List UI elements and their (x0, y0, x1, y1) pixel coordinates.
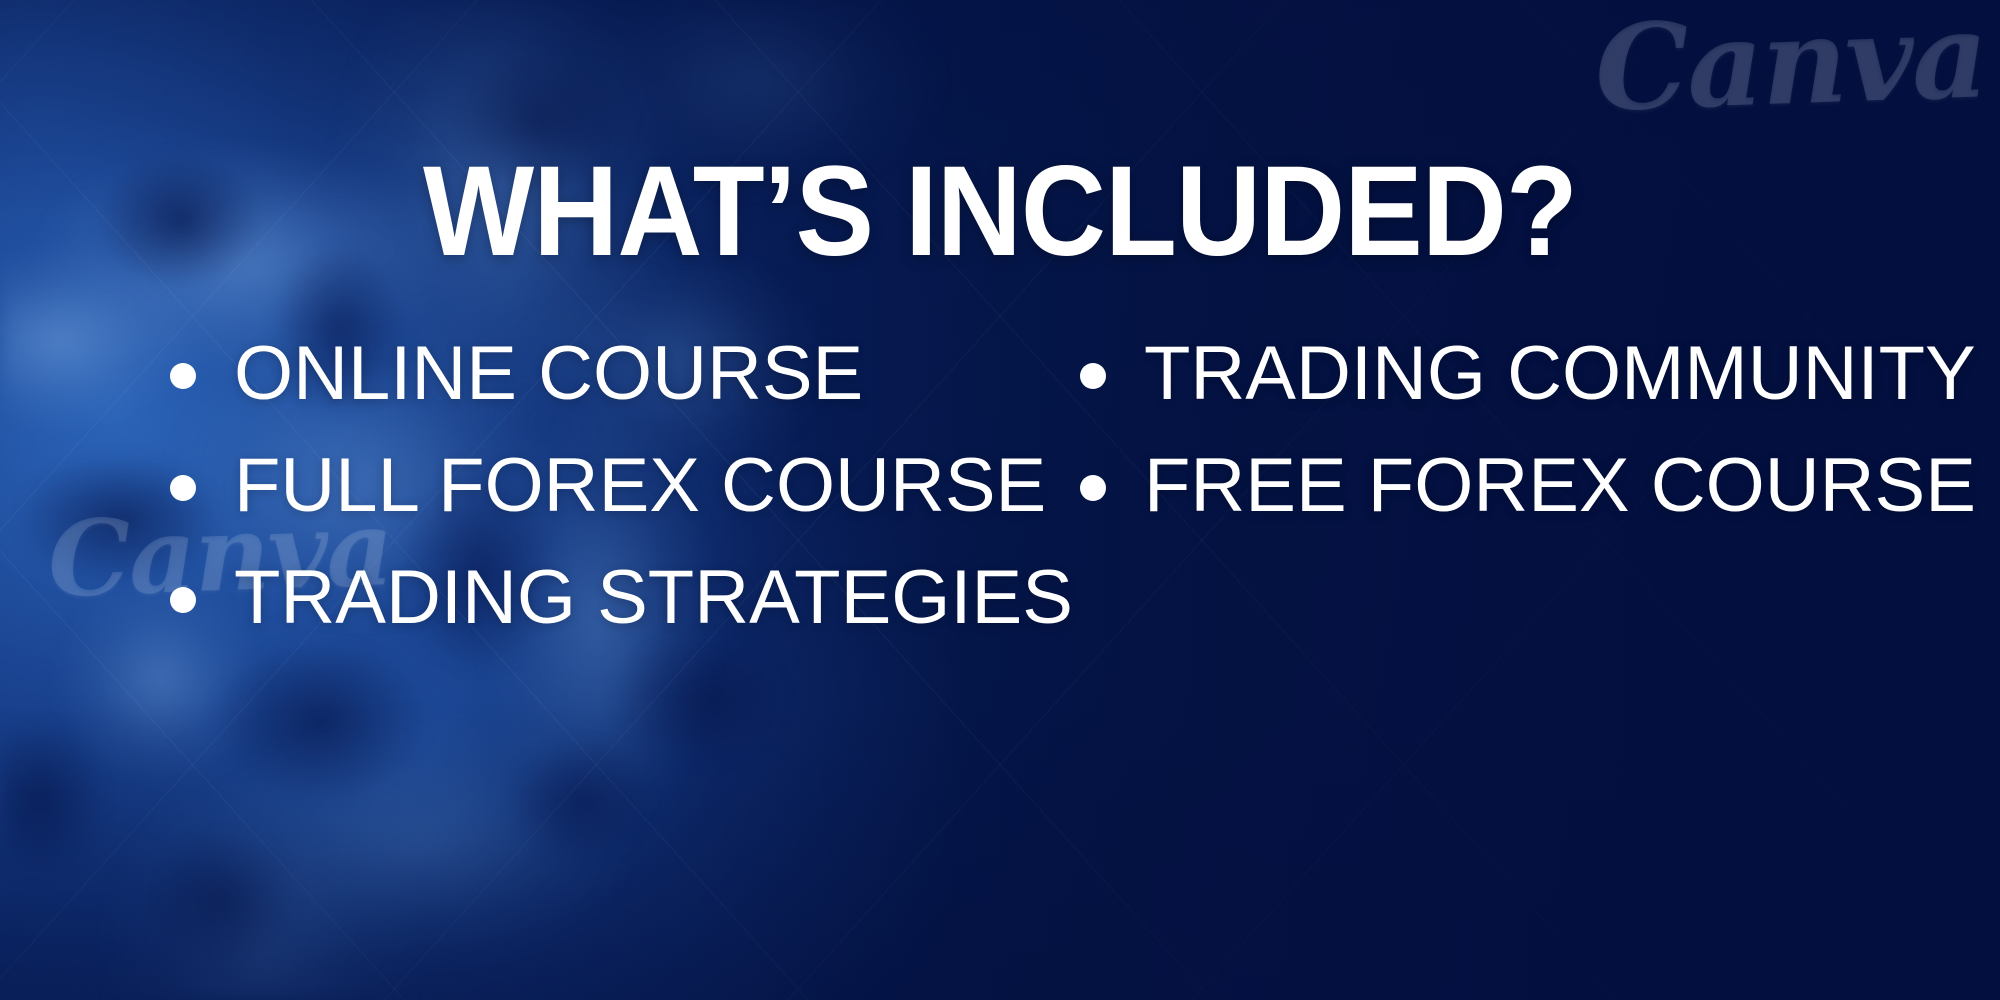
page-title: WHAT’S INCLUDED? (80, 148, 1920, 276)
bullet-column-right: TRADING COMMUNITY FREE FOREX COURSE (1080, 318, 1980, 542)
slide-content: WHAT’S INCLUDED? ONLINE COURSE FULL FORE… (0, 0, 2000, 1000)
bullet-point-icon (170, 587, 196, 613)
list-item-label: TRADING STRATEGIES (234, 560, 1073, 636)
list-item: TRADING COMMUNITY (1080, 318, 1980, 430)
list-item-label: FULL FOREX COURSE (234, 448, 1046, 524)
list-item: FULL FOREX COURSE (170, 430, 1050, 542)
list-item: TRADING STRATEGIES (170, 542, 1050, 654)
list-item: ONLINE COURSE (170, 318, 1050, 430)
list-item-label: ONLINE COURSE (234, 336, 863, 412)
slide-canvas: Canva Canva WHAT’S INCLUDED? ONLINE COUR… (0, 0, 2000, 1000)
list-item: FREE FOREX COURSE (1080, 430, 1980, 542)
bullet-point-icon (1080, 363, 1106, 389)
bullet-point-icon (170, 363, 196, 389)
list-item-label: FREE FOREX COURSE (1144, 448, 1976, 524)
bullet-point-icon (1080, 475, 1106, 501)
list-item-label: TRADING COMMUNITY (1144, 336, 1976, 412)
bullet-point-icon (170, 475, 196, 501)
bullet-column-left: ONLINE COURSE FULL FOREX COURSE TRADING … (170, 318, 1050, 654)
